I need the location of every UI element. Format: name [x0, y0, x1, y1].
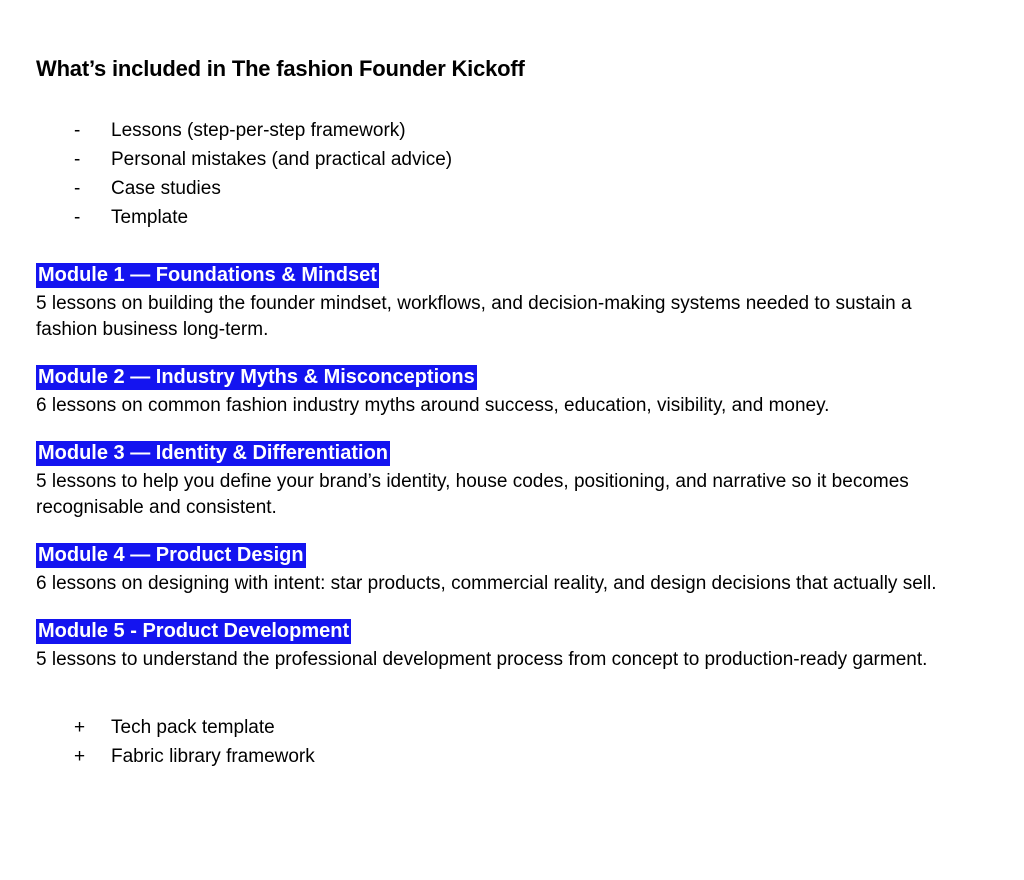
module-5: Module 5 - Product Development 5 lessons… [36, 618, 984, 673]
list-item: - Lessons (step-per-step framework) [74, 116, 984, 145]
module-description: 6 lessons on common fashion industry myt… [36, 393, 961, 419]
page-title: What’s included in The fashion Founder K… [36, 56, 984, 82]
module-heading-highlight: Module 3 — Identity & Differentiation [36, 441, 390, 466]
module-description: 5 lessons on building the founder mindse… [36, 291, 961, 343]
document-page: What’s included in The fashion Founder K… [0, 0, 1024, 880]
list-item-label: Lessons (step-per-step framework) [111, 116, 406, 145]
module-heading: Module 5 - Product Development [36, 618, 984, 645]
list-item-label: Tech pack template [111, 713, 275, 742]
module-heading: Module 3 — Identity & Differentiation [36, 440, 984, 467]
list-item: + Fabric library framework [74, 742, 984, 771]
module-heading-highlight: Module 1 — Foundations & Mindset [36, 263, 379, 288]
module-2: Module 2 — Industry Myths & Misconceptio… [36, 364, 984, 419]
module-heading: Module 1 — Foundations & Mindset [36, 262, 984, 289]
list-marker: + [74, 742, 111, 771]
list-item-label: Fabric library framework [111, 742, 315, 771]
list-item: - Personal mistakes (and practical advic… [74, 145, 984, 174]
bonus-items-list: + Tech pack template + Fabric library fr… [36, 713, 984, 771]
module-heading-highlight: Module 5 - Product Development [36, 619, 351, 644]
module-1: Module 1 — Foundations & Mindset 5 lesso… [36, 262, 984, 343]
module-heading-highlight: Module 2 — Industry Myths & Misconceptio… [36, 365, 477, 390]
list-item: - Template [74, 203, 984, 232]
module-heading: Module 4 — Product Design [36, 542, 984, 569]
modules-section: Module 1 — Foundations & Mindset 5 lesso… [36, 262, 984, 673]
list-item: - Case studies [74, 174, 984, 203]
module-description: 5 lessons to understand the professional… [36, 647, 961, 673]
list-marker: - [74, 203, 111, 232]
list-item-label: Case studies [111, 174, 221, 203]
list-item-label: Personal mistakes (and practical advice) [111, 145, 452, 174]
list-marker: - [74, 145, 111, 174]
module-4: Module 4 — Product Design 6 lessons on d… [36, 542, 984, 597]
list-item-label: Template [111, 203, 188, 232]
module-heading-highlight: Module 4 — Product Design [36, 543, 306, 568]
list-marker: + [74, 713, 111, 742]
module-heading: Module 2 — Industry Myths & Misconceptio… [36, 364, 984, 391]
module-3: Module 3 — Identity & Differentiation 5 … [36, 440, 984, 521]
module-description: 5 lessons to help you define your brand’… [36, 469, 961, 521]
module-description: 6 lessons on designing with intent: star… [36, 571, 961, 597]
list-marker: - [74, 116, 111, 145]
list-marker: - [74, 174, 111, 203]
list-item: + Tech pack template [74, 713, 984, 742]
included-items-list: - Lessons (step-per-step framework) - Pe… [36, 116, 984, 232]
